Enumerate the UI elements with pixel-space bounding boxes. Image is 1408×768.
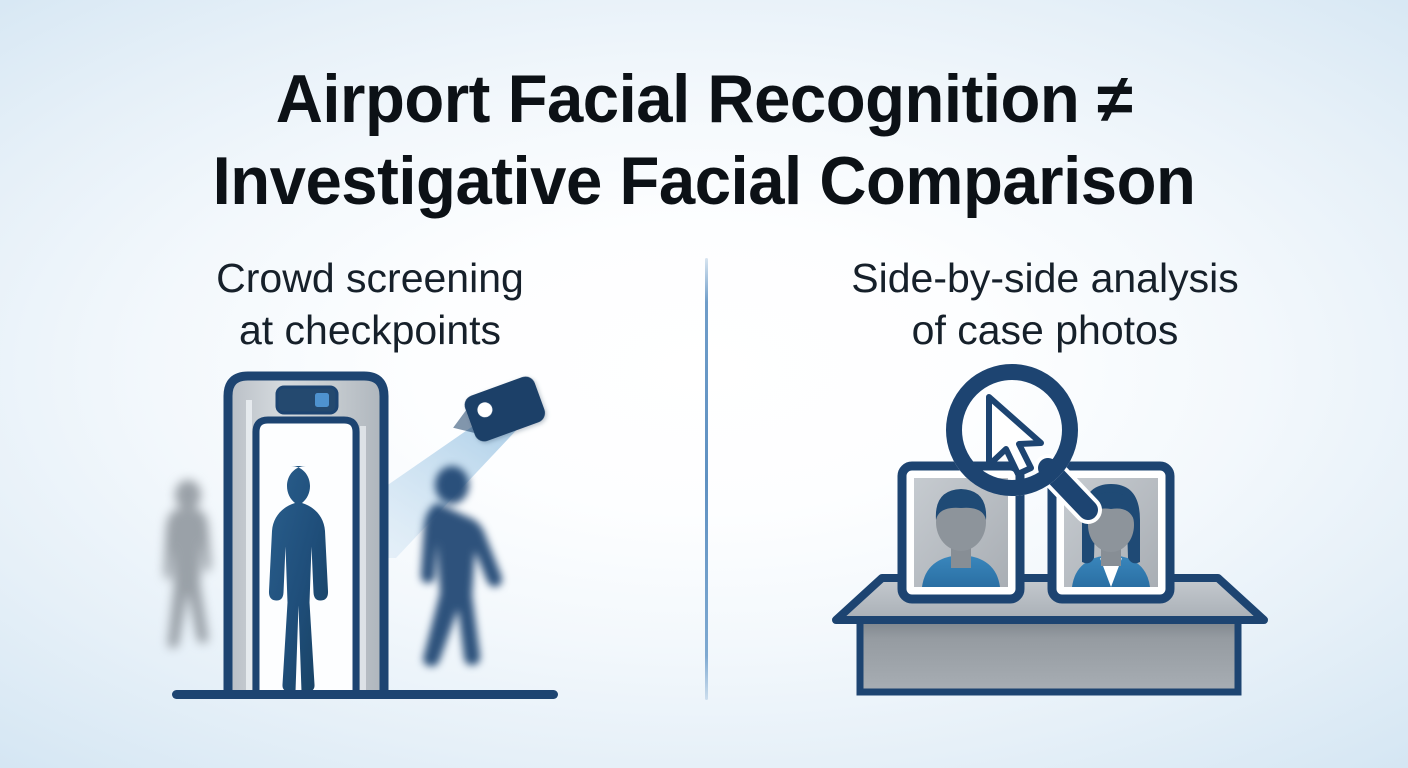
page-title: Airport Facial Recognition ≠ Investigati… <box>0 58 1408 222</box>
floor-line <box>172 690 558 699</box>
caption-right-line-1: Side-by-side analysis <box>745 252 1345 304</box>
illustration-photo-comparison <box>830 370 1270 710</box>
crowd-figure-left <box>164 480 211 648</box>
title-line-2: Investigative Facial Comparison <box>28 140 1380 222</box>
caption-right-line-2: of case photos <box>745 304 1345 356</box>
title-line-1: Airport Facial Recognition ≠ <box>28 58 1380 140</box>
caption-left-line-1: Crowd screening <box>70 252 670 304</box>
desk-front-panel <box>860 620 1238 692</box>
sensor-indicator-icon <box>315 393 329 407</box>
caption-right: Side-by-side analysis of case photos <box>745 252 1345 356</box>
illustration-airport-screening <box>150 370 580 710</box>
panel-divider <box>705 258 708 700</box>
caption-left: Crowd screening at checkpoints <box>70 252 670 356</box>
caption-left-line-2: at checkpoints <box>70 304 670 356</box>
infographic-canvas: Airport Facial Recognition ≠ Investigati… <box>0 0 1408 768</box>
overhead-sensor-bar <box>277 387 337 413</box>
